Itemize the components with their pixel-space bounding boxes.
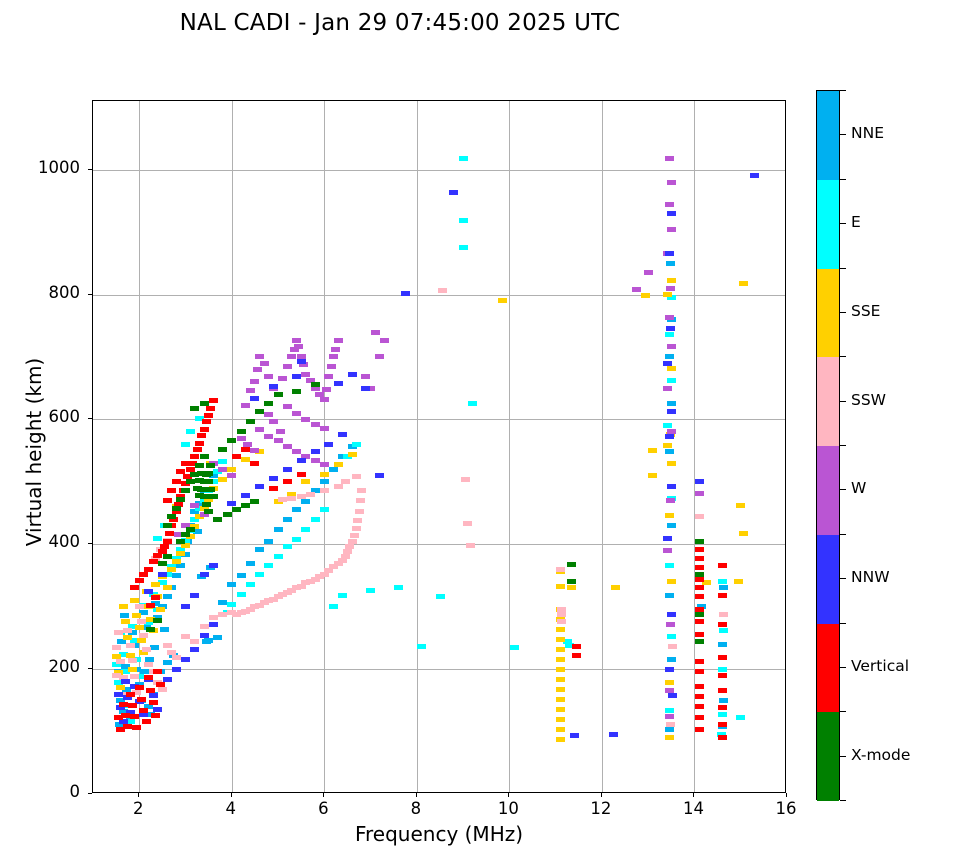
plot-area xyxy=(92,100,786,793)
scatter-point xyxy=(172,506,181,511)
scatter-point xyxy=(327,364,336,369)
colorbar-label-tick xyxy=(840,756,846,757)
scatter-point xyxy=(666,326,675,331)
scatter-point xyxy=(130,598,139,603)
scatter-point xyxy=(301,499,310,504)
scatter-point xyxy=(695,556,704,561)
scatter-point xyxy=(283,404,292,409)
scatter-point xyxy=(348,539,357,544)
scatter-point xyxy=(292,338,301,343)
scatter-point xyxy=(126,692,135,697)
scatter-point xyxy=(163,554,172,559)
scatter-point xyxy=(287,354,296,359)
colorbar-label-e: E xyxy=(851,213,861,231)
scatter-point xyxy=(611,585,620,590)
scatter-point xyxy=(135,685,144,690)
scatter-point xyxy=(116,685,125,690)
scatter-point xyxy=(417,644,426,649)
colorbar-label-tick xyxy=(840,312,846,313)
scatter-point xyxy=(311,458,320,463)
scatter-point xyxy=(557,612,566,617)
colorbar-label-tick xyxy=(840,667,846,668)
scatter-point xyxy=(695,547,704,552)
scatter-point xyxy=(232,454,241,459)
scatter-point xyxy=(151,582,160,587)
scatter-point xyxy=(255,409,264,414)
scatter-point xyxy=(176,539,185,544)
scatter-point xyxy=(556,697,565,702)
gridline-horizontal xyxy=(93,295,785,296)
scatter-point xyxy=(123,628,132,633)
scatter-point xyxy=(665,563,674,568)
scatter-point xyxy=(139,708,148,713)
colorbar[interactable] xyxy=(816,90,840,800)
scatter-point xyxy=(260,361,269,366)
colorbar-label-ssw: SSW xyxy=(851,391,886,409)
scatter-point xyxy=(667,278,676,283)
scatter-point xyxy=(206,487,215,492)
scatter-point xyxy=(139,572,148,577)
scatter-point xyxy=(665,667,674,672)
scatter-point xyxy=(667,378,676,383)
scatter-point xyxy=(567,585,576,590)
scatter-point xyxy=(665,449,674,454)
y-axis-title: Virtual height (km) xyxy=(22,252,46,652)
scatter-point xyxy=(292,449,301,454)
x-axis-title: Frequency (MHz) xyxy=(92,822,786,846)
scatter-point xyxy=(200,479,209,484)
scatter-point xyxy=(241,447,250,452)
scatter-point xyxy=(163,643,172,648)
scatter-point xyxy=(137,619,146,624)
scatter-point xyxy=(695,659,704,664)
scatter-point xyxy=(297,458,306,463)
scatter-point xyxy=(718,593,727,598)
colorbar-segment-x-mode[interactable] xyxy=(817,712,839,801)
scatter-point xyxy=(666,498,675,503)
scatter-point xyxy=(151,595,160,600)
colorbar-segment-e[interactable] xyxy=(817,180,839,269)
scatter-point xyxy=(438,288,447,293)
scatter-point xyxy=(274,554,283,559)
scatter-point xyxy=(297,359,306,364)
x-tick xyxy=(508,793,509,797)
scatter-point xyxy=(202,419,211,424)
scatter-point xyxy=(348,372,357,377)
scatter-point xyxy=(292,389,301,394)
scatter-point xyxy=(119,604,128,609)
scatter-point xyxy=(264,434,273,439)
scatter-point xyxy=(719,628,728,633)
scatter-point xyxy=(158,561,167,566)
scatter-point xyxy=(250,396,259,401)
y-tick xyxy=(88,294,92,295)
colorbar-segment-nne[interactable] xyxy=(817,91,839,180)
scatter-point xyxy=(556,677,565,682)
scatter-point xyxy=(320,462,329,467)
scatter-point xyxy=(665,735,674,740)
scatter-point xyxy=(128,658,137,663)
scatter-point xyxy=(695,514,704,519)
scatter-point xyxy=(459,218,468,223)
scatter-point xyxy=(181,634,190,639)
x-tick xyxy=(231,793,232,797)
scatter-point xyxy=(209,615,218,620)
scatter-point xyxy=(355,509,364,514)
scatter-point xyxy=(156,607,165,612)
scatter-point xyxy=(665,434,674,439)
scatter-point xyxy=(557,607,566,612)
scatter-point xyxy=(718,705,727,710)
scatter-point xyxy=(567,579,576,584)
scatter-point xyxy=(144,675,153,680)
scatter-point xyxy=(132,725,141,730)
scatter-point xyxy=(324,374,333,379)
scatter-point xyxy=(218,600,227,605)
scatter-point xyxy=(341,479,350,484)
scatter-point xyxy=(250,461,259,466)
scatter-point xyxy=(163,523,172,528)
y-tick xyxy=(88,543,92,544)
scatter-point xyxy=(736,503,745,508)
scatter-point xyxy=(167,567,176,572)
scatter-point xyxy=(246,388,255,393)
scatter-point xyxy=(186,527,195,532)
scatter-point xyxy=(667,634,676,639)
scatter-point xyxy=(632,287,641,292)
scatter-point xyxy=(200,633,209,638)
scatter-point xyxy=(665,315,674,320)
scatter-point xyxy=(718,667,727,672)
scatter-point xyxy=(718,622,727,627)
scatter-point xyxy=(172,667,181,672)
scatter-point xyxy=(283,467,292,472)
scatter-point xyxy=(695,594,704,599)
x-tick xyxy=(601,793,602,797)
scatter-point xyxy=(556,657,565,662)
scatter-point xyxy=(498,298,507,303)
scatter-point xyxy=(695,669,704,674)
scatter-point xyxy=(153,707,162,712)
scatter-point xyxy=(718,735,727,740)
scatter-point xyxy=(739,531,748,536)
scatter-point xyxy=(250,448,259,453)
scatter-point xyxy=(338,432,347,437)
scatter-point xyxy=(227,473,236,478)
scatter-point xyxy=(665,708,674,713)
scatter-point xyxy=(163,660,172,665)
scatter-point xyxy=(641,293,650,298)
scatter-point xyxy=(334,462,343,467)
scatter-point xyxy=(341,554,350,559)
scatter-point xyxy=(294,344,303,349)
colorbar-label-tick xyxy=(840,134,846,135)
scatter-point xyxy=(218,477,227,482)
scatter-point xyxy=(718,712,727,717)
scatter-point xyxy=(165,531,174,536)
colorbar-label-sse: SSE xyxy=(851,302,880,320)
x-tick-label: 4 xyxy=(201,799,261,818)
scatter-point xyxy=(253,367,262,372)
scatter-point xyxy=(137,638,146,643)
scatter-point xyxy=(200,427,209,432)
scatter-point xyxy=(667,612,676,617)
scatter-point xyxy=(135,604,144,609)
scatter-point xyxy=(329,467,338,472)
scatter-point xyxy=(556,637,565,642)
scatter-point xyxy=(206,463,215,468)
scatter-point xyxy=(665,513,674,518)
scatter-point xyxy=(237,592,246,597)
scatter-point xyxy=(353,518,362,523)
scatter-point xyxy=(227,438,236,443)
scatter-point xyxy=(297,494,306,499)
scatter-point xyxy=(246,561,255,566)
scatter-point xyxy=(320,426,329,431)
scatter-point xyxy=(274,438,283,443)
colorbar-label-vertical: Vertical xyxy=(851,657,909,675)
scatter-point xyxy=(112,645,121,650)
x-tick-label: 12 xyxy=(571,799,631,818)
x-tick-label: 10 xyxy=(478,799,538,818)
gridline-vertical xyxy=(602,101,603,792)
scatter-point xyxy=(375,354,384,359)
colorbar-segment-nnw[interactable] xyxy=(817,535,839,624)
x-tick xyxy=(786,793,787,797)
scatter-point xyxy=(227,501,236,506)
scatter-point xyxy=(269,476,278,481)
colorbar-label-tick xyxy=(840,578,846,579)
scatter-point xyxy=(149,559,158,564)
x-tick-label: 2 xyxy=(108,799,168,818)
scatter-point xyxy=(667,484,676,489)
gridline-vertical xyxy=(232,101,233,792)
scatter-point xyxy=(718,688,727,693)
scatter-point xyxy=(200,454,209,459)
scatter-point xyxy=(142,719,151,724)
scatter-point xyxy=(146,603,155,608)
scatter-point xyxy=(274,527,283,532)
scatter-point xyxy=(750,173,759,178)
scatter-point xyxy=(130,714,139,719)
scatter-point xyxy=(181,488,190,493)
scatter-point xyxy=(237,436,246,441)
scatter-point xyxy=(301,527,310,532)
scatter-point xyxy=(197,433,206,438)
scatter-point xyxy=(695,632,704,637)
scatter-point xyxy=(352,442,361,447)
scatter-point xyxy=(123,635,132,640)
scatter-point xyxy=(352,526,361,531)
scatter-point xyxy=(718,642,727,647)
scatter-point xyxy=(209,398,218,403)
scatter-point xyxy=(158,572,167,577)
scatter-point xyxy=(557,619,566,624)
scatter-point xyxy=(283,364,292,369)
scatter-point xyxy=(204,638,213,643)
scatter-point xyxy=(665,593,674,598)
scatter-point xyxy=(167,514,176,519)
scatter-point xyxy=(567,562,576,567)
scatter-point xyxy=(190,503,199,508)
scatter-point xyxy=(255,547,264,552)
scatter-point xyxy=(163,539,172,544)
scatter-point xyxy=(695,727,704,732)
scatter-point xyxy=(667,180,676,185)
scatter-point xyxy=(200,572,209,577)
scatter-point xyxy=(287,496,296,501)
chart-title: NAL CADI - Jan 29 07:45:00 2025 UTC xyxy=(0,10,800,36)
scatter-point xyxy=(206,406,215,411)
scatter-point xyxy=(666,722,675,727)
scatter-point xyxy=(663,386,672,391)
scatter-point xyxy=(459,156,468,161)
scatter-point xyxy=(667,344,676,349)
scatter-point xyxy=(292,537,301,542)
scatter-point xyxy=(200,624,209,629)
scatter-point xyxy=(276,429,285,434)
scatter-point xyxy=(663,292,672,297)
scatter-point xyxy=(195,493,204,498)
scatter-point xyxy=(200,401,209,406)
scatter-point xyxy=(172,559,181,564)
scatter-point xyxy=(213,517,222,522)
scatter-point xyxy=(556,667,565,672)
scatter-point xyxy=(172,655,181,660)
scatter-point xyxy=(218,459,227,464)
scatter-point xyxy=(269,486,278,491)
scatter-point xyxy=(556,707,565,712)
scatter-point xyxy=(301,372,310,377)
scatter-point xyxy=(695,585,704,590)
scatter-point xyxy=(320,488,329,493)
scatter-point xyxy=(361,386,370,391)
scatter-point xyxy=(163,498,172,503)
scatter-point xyxy=(176,551,185,556)
scatter-point xyxy=(144,589,153,594)
scatter-point xyxy=(648,473,657,478)
scatter-point xyxy=(667,409,676,414)
scatter-point xyxy=(394,585,403,590)
colorbar-segment-sse[interactable] xyxy=(817,269,839,358)
scatter-point xyxy=(193,486,202,491)
scatter-point xyxy=(121,713,130,718)
scatter-point xyxy=(468,401,477,406)
scatter-point xyxy=(570,733,579,738)
scatter-point xyxy=(278,497,287,502)
scatter-point xyxy=(648,448,657,453)
scatter-point xyxy=(190,454,199,459)
scatter-point xyxy=(311,517,320,522)
gridline-horizontal xyxy=(93,170,785,171)
scatter-point xyxy=(311,382,320,387)
scatter-point xyxy=(695,565,704,570)
scatter-point xyxy=(719,585,728,590)
colorbar-tick xyxy=(840,268,846,269)
colorbar-segment-vertical[interactable] xyxy=(817,624,839,713)
scatter-point xyxy=(255,427,264,432)
x-tick-label: 14 xyxy=(663,799,723,818)
scatter-point xyxy=(459,245,468,250)
scatter-point xyxy=(334,381,343,386)
y-tick-label: 800 xyxy=(0,283,80,302)
scatter-point xyxy=(461,477,470,482)
gridline-horizontal xyxy=(93,544,785,545)
x-tick-label: 6 xyxy=(293,799,353,818)
scatter-point xyxy=(292,374,301,379)
scatter-point xyxy=(223,512,232,517)
scatter-point xyxy=(667,461,676,466)
scatter-point xyxy=(237,573,246,578)
scatter-point xyxy=(665,332,674,337)
scatter-point xyxy=(311,449,320,454)
x-tick-label: 8 xyxy=(386,799,446,818)
scatter-point xyxy=(345,544,354,549)
scatter-point xyxy=(320,397,329,402)
scatter-point xyxy=(436,594,445,599)
scatter-point xyxy=(329,354,338,359)
scatter-point xyxy=(324,442,333,447)
scatter-point xyxy=(663,443,672,448)
scatter-point xyxy=(695,612,704,617)
scatter-point xyxy=(667,227,676,232)
scatter-point xyxy=(121,619,130,624)
scatter-point xyxy=(237,429,246,434)
scatter-point xyxy=(695,619,704,624)
scatter-point xyxy=(357,488,366,493)
scatter-point xyxy=(718,673,727,678)
scatter-point xyxy=(665,202,674,207)
scatter-point xyxy=(153,553,162,558)
scatter-point xyxy=(156,682,165,687)
x-tick xyxy=(416,793,417,797)
scatter-point xyxy=(135,578,144,583)
scatter-point xyxy=(193,447,202,452)
scatter-point xyxy=(666,261,675,266)
scatter-point xyxy=(146,627,155,632)
scatter-point xyxy=(218,447,227,452)
scatter-point xyxy=(121,679,130,684)
scatter-point xyxy=(160,544,169,549)
x-tick xyxy=(138,793,139,797)
scatter-point xyxy=(158,687,167,692)
scatter-point xyxy=(283,479,292,484)
scatter-point xyxy=(116,659,125,664)
scatter-point xyxy=(556,647,565,652)
scatter-point xyxy=(665,251,674,256)
scatter-point xyxy=(132,613,141,618)
y-tick-label: 600 xyxy=(0,407,80,426)
scatter-point xyxy=(114,630,123,635)
scatter-point xyxy=(665,156,674,161)
colorbar-segment-ssw[interactable] xyxy=(817,357,839,446)
colorbar-label-tick xyxy=(840,223,846,224)
scatter-point xyxy=(264,401,273,406)
scatter-point xyxy=(718,563,727,568)
scatter-point xyxy=(120,613,129,618)
scatter-point xyxy=(218,467,227,472)
scatter-point xyxy=(644,270,653,275)
scatter-point xyxy=(176,497,185,502)
scatter-point xyxy=(375,473,384,478)
scatter-point xyxy=(401,291,410,296)
scatter-point xyxy=(204,509,213,514)
scatter-point xyxy=(556,737,565,742)
scatter-point xyxy=(297,472,306,477)
scatter-point xyxy=(695,684,704,689)
colorbar-segment-w[interactable] xyxy=(817,446,839,535)
scatter-point xyxy=(181,461,190,466)
